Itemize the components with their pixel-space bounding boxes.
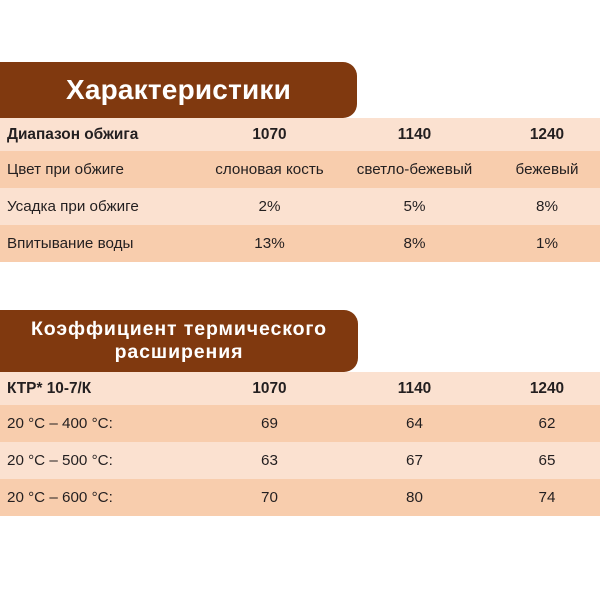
- table-header-label: Диапазон обжига: [0, 118, 197, 151]
- section-title-text: Коэффициент термического расширения: [0, 318, 358, 363]
- row-value: 62: [487, 405, 600, 442]
- thermal-expansion-table: КТР* 10-7/К 1070 1140 1240 20 °C – 400 °…: [0, 372, 600, 516]
- table-row: 20 °C – 400 °C: 69 64 62: [0, 405, 600, 442]
- row-value: 74: [487, 479, 600, 516]
- row-label: Усадка при обжиге: [0, 188, 197, 225]
- row-value: 5%: [342, 188, 487, 225]
- row-value: светло-бежевый: [342, 151, 487, 188]
- row-value: 1%: [487, 225, 600, 262]
- row-value: 67: [342, 442, 487, 479]
- row-label: Цвет при обжиге: [0, 151, 197, 188]
- table-header-value-1240: 1240: [487, 118, 600, 151]
- row-value: 69: [197, 405, 342, 442]
- section-title-badge-thermal-expansion: Коэффициент термического расширения: [0, 310, 358, 372]
- table-row: 20 °C – 600 °C: 70 80 74: [0, 479, 600, 516]
- table-header-value-1140: 1140: [342, 372, 487, 405]
- row-value: 2%: [197, 188, 342, 225]
- row-value: 65: [487, 442, 600, 479]
- row-value: 63: [197, 442, 342, 479]
- row-value: 64: [342, 405, 487, 442]
- table-row: Усадка при обжиге 2% 5% 8%: [0, 188, 600, 225]
- row-label: 20 °C – 600 °C:: [0, 479, 197, 516]
- row-value: 13%: [197, 225, 342, 262]
- row-value: слоновая кость: [197, 151, 342, 188]
- row-value: 70: [197, 479, 342, 516]
- row-label: Впитывание воды: [0, 225, 197, 262]
- ceramic-properties-infographic: Характеристики Диапазон обжига 1070 1140…: [0, 0, 600, 600]
- characteristics-table: Диапазон обжига 1070 1140 1240 Цвет при …: [0, 118, 600, 262]
- table-header-value-1070: 1070: [197, 118, 342, 151]
- table-header-value-1240: 1240: [487, 372, 600, 405]
- table-row: 20 °C – 500 °C: 63 67 65: [0, 442, 600, 479]
- row-value: бежевый: [487, 151, 600, 188]
- section-title-badge-characteristics: Характеристики: [0, 62, 357, 118]
- row-value: 8%: [342, 225, 487, 262]
- table-header-label: КТР* 10-7/К: [0, 372, 197, 405]
- row-label: 20 °C – 400 °C:: [0, 405, 197, 442]
- table-header-row: Диапазон обжига 1070 1140 1240: [0, 118, 600, 151]
- row-label: 20 °C – 500 °C:: [0, 442, 197, 479]
- row-value: 80: [342, 479, 487, 516]
- table-header-value-1070: 1070: [197, 372, 342, 405]
- section-title-text: Характеристики: [34, 74, 309, 106]
- table-row: Впитывание воды 13% 8% 1%: [0, 225, 600, 262]
- table-header-value-1140: 1140: [342, 118, 487, 151]
- table-header-row: КТР* 10-7/К 1070 1140 1240: [0, 372, 600, 405]
- row-value: 8%: [487, 188, 600, 225]
- table-row: Цвет при обжиге слоновая кость светло-бе…: [0, 151, 600, 188]
